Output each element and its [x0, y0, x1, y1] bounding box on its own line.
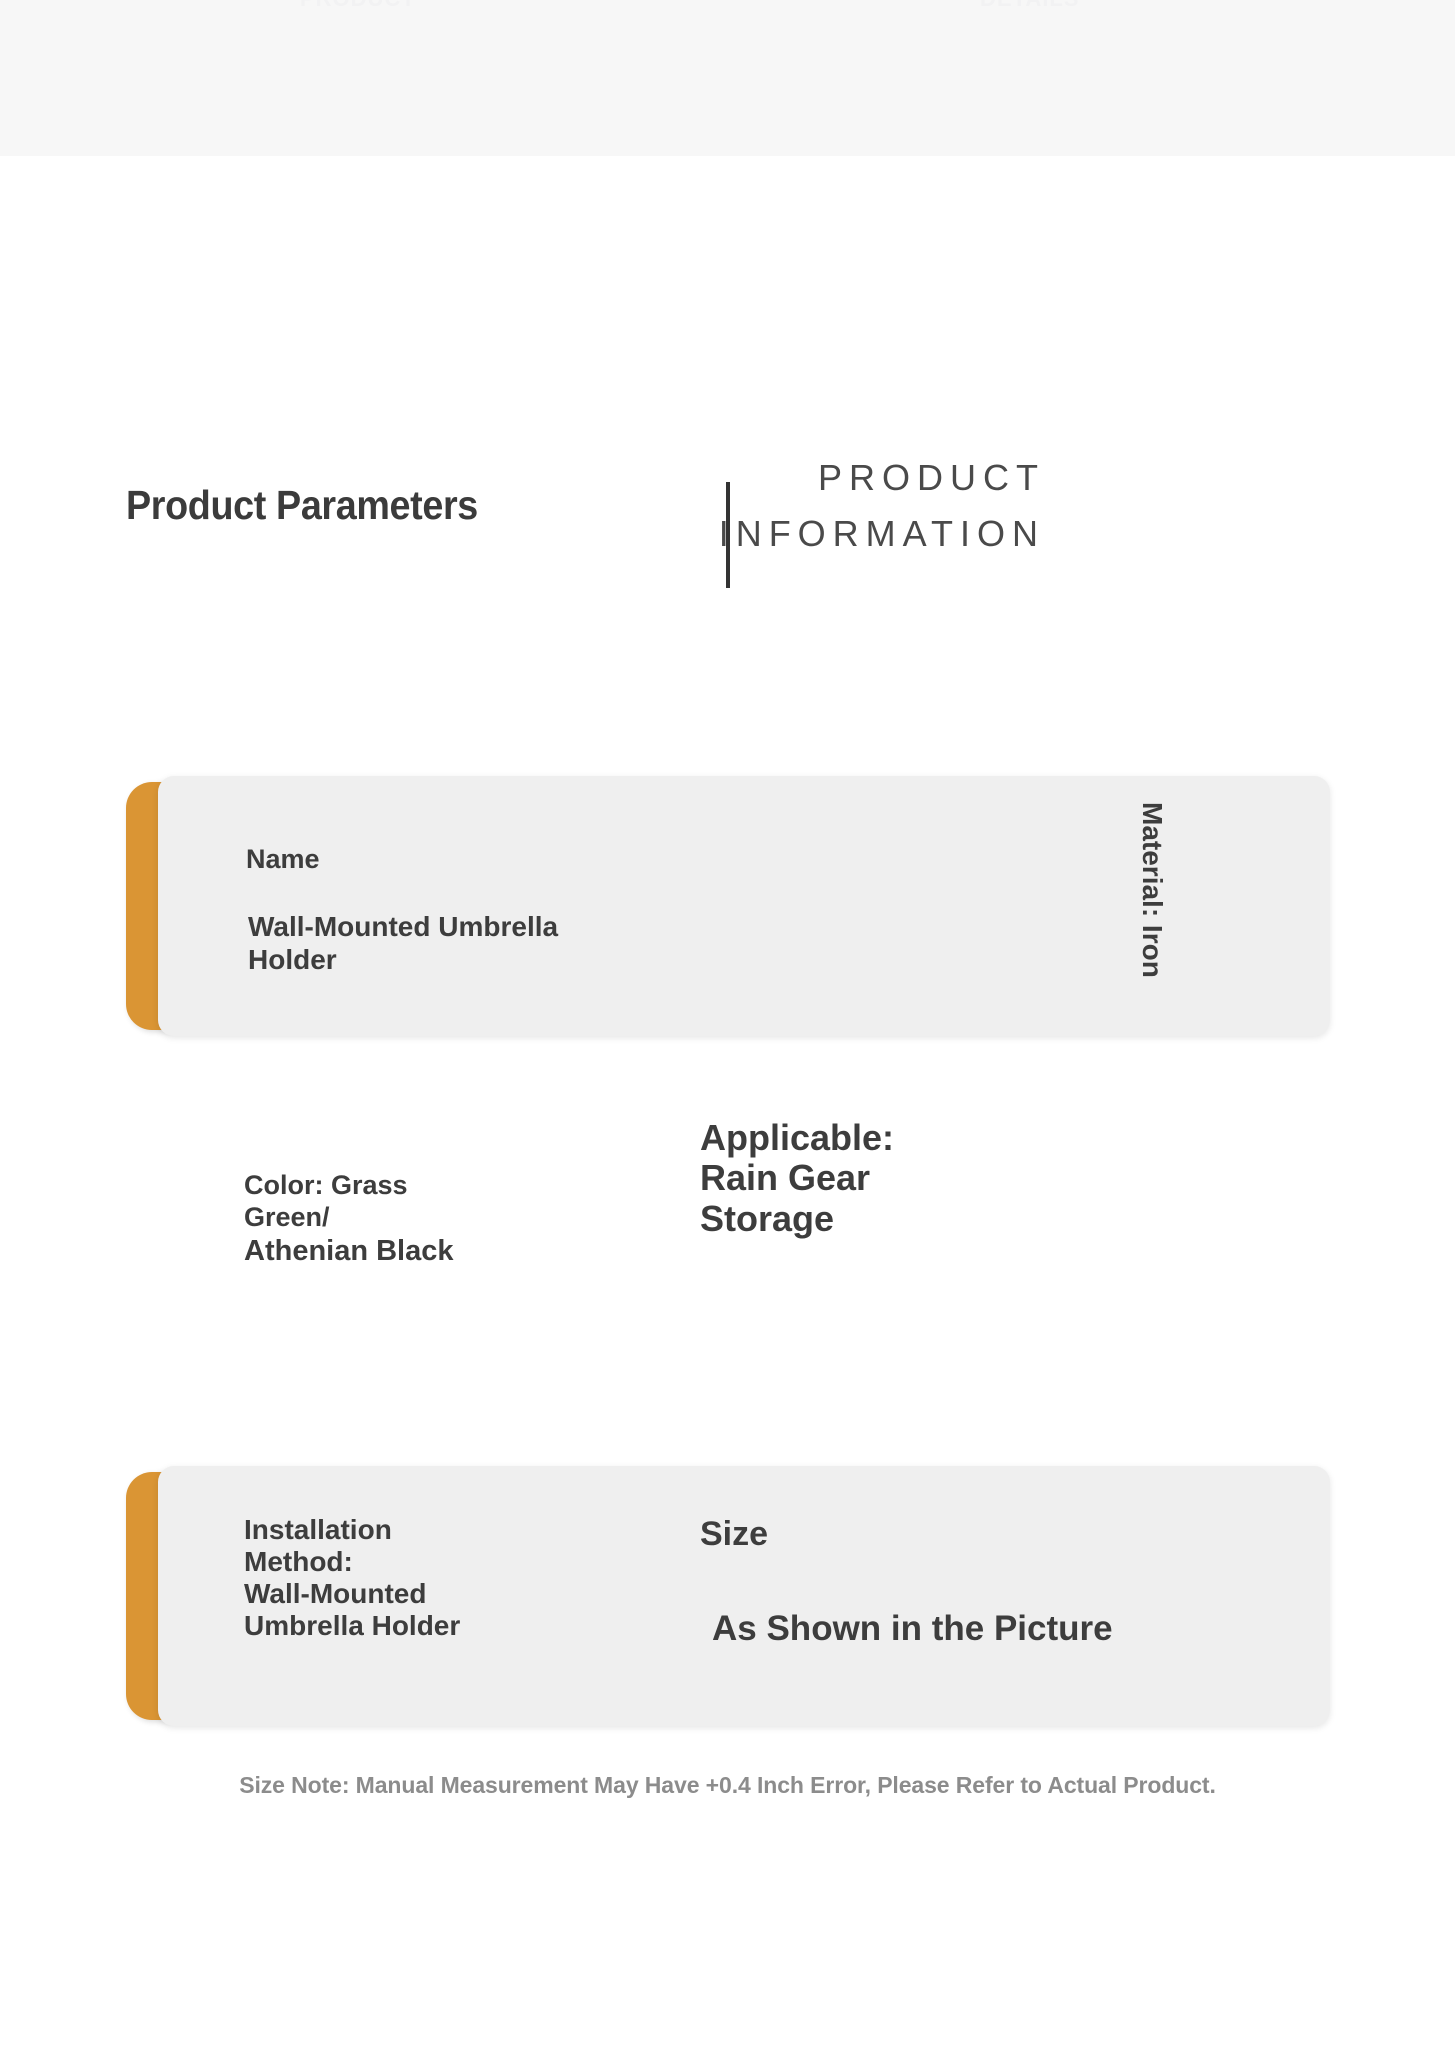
- color-value-line2: Athenian Black: [244, 1234, 674, 1268]
- section-header: Product Parameters PRODUCT INFORMATION: [0, 470, 1455, 600]
- applicable-value: Applicable: Rain Gear Storage: [700, 1118, 1120, 1239]
- installation-method-value: Installation Method: Wall-Mounted Umbrel…: [244, 1514, 704, 1642]
- name-label: Name: [246, 844, 320, 876]
- band-ghost-text-right: DETAILS: [980, 0, 1079, 12]
- size-value: As Shown in the Picture: [712, 1608, 1113, 1649]
- color-value-line1: Color: Grass Green/: [244, 1170, 408, 1232]
- size-label: Size: [700, 1514, 768, 1554]
- size-note: Size Note: Manual Measurement May Have +…: [0, 1772, 1455, 1799]
- color-value: Color: Grass Green/ Athenian Black: [244, 1138, 674, 1300]
- page-title: Product Parameters: [126, 482, 478, 529]
- band-ghost-text-left: PRODUCT: [300, 0, 416, 12]
- name-value: Wall-Mounted Umbrella Holder: [248, 910, 718, 976]
- previous-section-band: PRODUCT DETAILS: [0, 0, 1455, 156]
- header-subtitle: PRODUCT INFORMATION: [445, 450, 1045, 562]
- material-value-vertical: Material: Iron: [1136, 802, 1169, 978]
